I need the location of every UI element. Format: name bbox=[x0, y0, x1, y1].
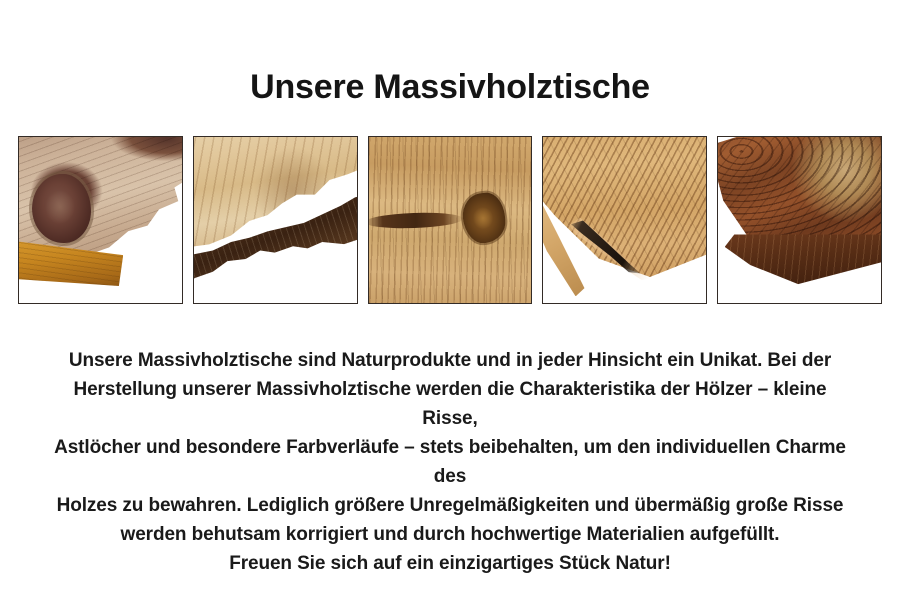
body-line: Freuen Sie sich auf ein einzigartiges St… bbox=[50, 549, 850, 578]
body-line: Holzes zu bewahren. Lediglich größere Un… bbox=[50, 491, 850, 520]
wood-photo-4 bbox=[543, 137, 706, 303]
gallery-image-rough-sawn-mango-with-crack bbox=[542, 136, 707, 304]
gallery-image-wood-grain-with-knot bbox=[368, 136, 533, 304]
wood-photo-5 bbox=[718, 137, 881, 303]
gallery-image-burl-corner-slab bbox=[18, 136, 183, 304]
body-line: Herstellung unserer Massivholztische wer… bbox=[50, 375, 850, 433]
body-copy: Unsere Massivholztische sind Naturproduk… bbox=[50, 346, 850, 578]
page-title: Unsere Massivholztische bbox=[0, 66, 900, 108]
wood-photo-2 bbox=[194, 137, 357, 303]
body-line: werden behutsam korrigiert und durch hoc… bbox=[50, 520, 850, 549]
image-gallery-strip bbox=[18, 136, 882, 304]
wood-photo-3 bbox=[369, 137, 532, 303]
gallery-image-sheesham-corner-swirl-grain bbox=[717, 136, 882, 304]
gallery-image-live-edge-blonde-slab bbox=[193, 136, 358, 304]
product-info-graphic: Unsere Massivholztische bbox=[0, 0, 900, 600]
body-line: Astlöcher und besondere Farbverläufe – s… bbox=[50, 433, 850, 491]
body-line: Unsere Massivholztische sind Naturproduk… bbox=[50, 346, 850, 375]
wood-photo-1 bbox=[19, 137, 182, 303]
knot-detail-icon bbox=[32, 174, 91, 244]
